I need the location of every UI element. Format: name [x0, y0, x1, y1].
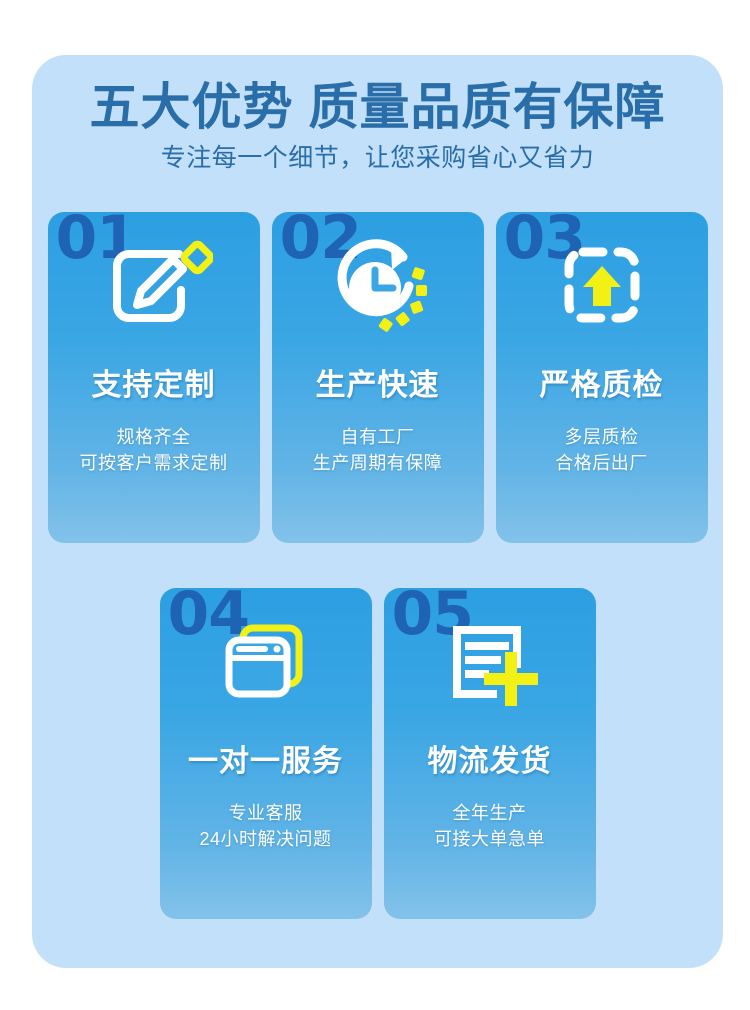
pencil-edit-icon	[95, 230, 213, 342]
card-title: 一对一服务	[160, 736, 372, 780]
card-desc-line-1: 全年生产	[384, 800, 596, 826]
card-description: 全年生产 可接大单急单	[384, 800, 596, 852]
card-desc-line-1: 自有工厂	[272, 424, 484, 450]
card-desc-line-1: 专业客服	[160, 800, 372, 826]
heading-block: 五大优势 质量品质有保障 专注每一个细节，让您采购省心又省力	[32, 55, 723, 171]
feature-card-05[interactable]: 05 物流发货 全年生产 可接大单急单	[384, 588, 596, 919]
card-desc-line-2: 24小时解决问题	[160, 826, 372, 852]
feature-card-03[interactable]: 03 严格质检 多层质检 合格后出厂	[496, 212, 708, 543]
card-title: 严格质检	[496, 360, 708, 404]
feature-row-1: 01 支持定制 规格齐全 可按客户需求定制 02	[32, 212, 723, 543]
page-subtitle: 专注每一个细节，让您采购省心又省力	[32, 132, 723, 171]
card-desc-line-2: 生产周期有保障	[272, 450, 484, 476]
card-description: 多层质检 合格后出厂	[496, 424, 708, 476]
card-description: 规格齐全 可按客户需求定制	[48, 424, 260, 476]
card-desc-line-1: 规格齐全	[48, 424, 260, 450]
feature-card-04[interactable]: 04 一对一服务 专业客服 24小时解决问题	[160, 588, 372, 919]
clock-refresh-icon	[319, 230, 437, 342]
card-desc-line-1: 多层质检	[496, 424, 708, 450]
card-desc-line-2: 可按客户需求定制	[48, 450, 260, 476]
card-title: 生产快速	[272, 360, 484, 404]
stacked-windows-icon	[207, 606, 325, 718]
page-title: 五大优势 质量品质有保障	[32, 55, 723, 132]
card-title: 物流发货	[384, 736, 596, 780]
card-description: 专业客服 24小时解决问题	[160, 800, 372, 852]
document-plus-icon	[431, 606, 549, 718]
card-desc-line-2: 合格后出厂	[496, 450, 708, 476]
promo-panel: 五大优势 质量品质有保障 专注每一个细节，让您采购省心又省力 01 支持定制 规…	[32, 55, 723, 968]
card-title: 支持定制	[48, 360, 260, 404]
dashed-frame-arrow-up-icon	[543, 230, 661, 342]
card-desc-line-2: 可接大单急单	[384, 826, 596, 852]
card-description: 自有工厂 生产周期有保障	[272, 424, 484, 476]
feature-card-02[interactable]: 02 生产快速 自有工厂 生产周期有保障	[272, 212, 484, 543]
feature-row-2: 04 一对一服务 专业客服 24小时解决问题 05	[32, 588, 723, 919]
feature-card-01[interactable]: 01 支持定制 规格齐全 可按客户需求定制	[48, 212, 260, 543]
